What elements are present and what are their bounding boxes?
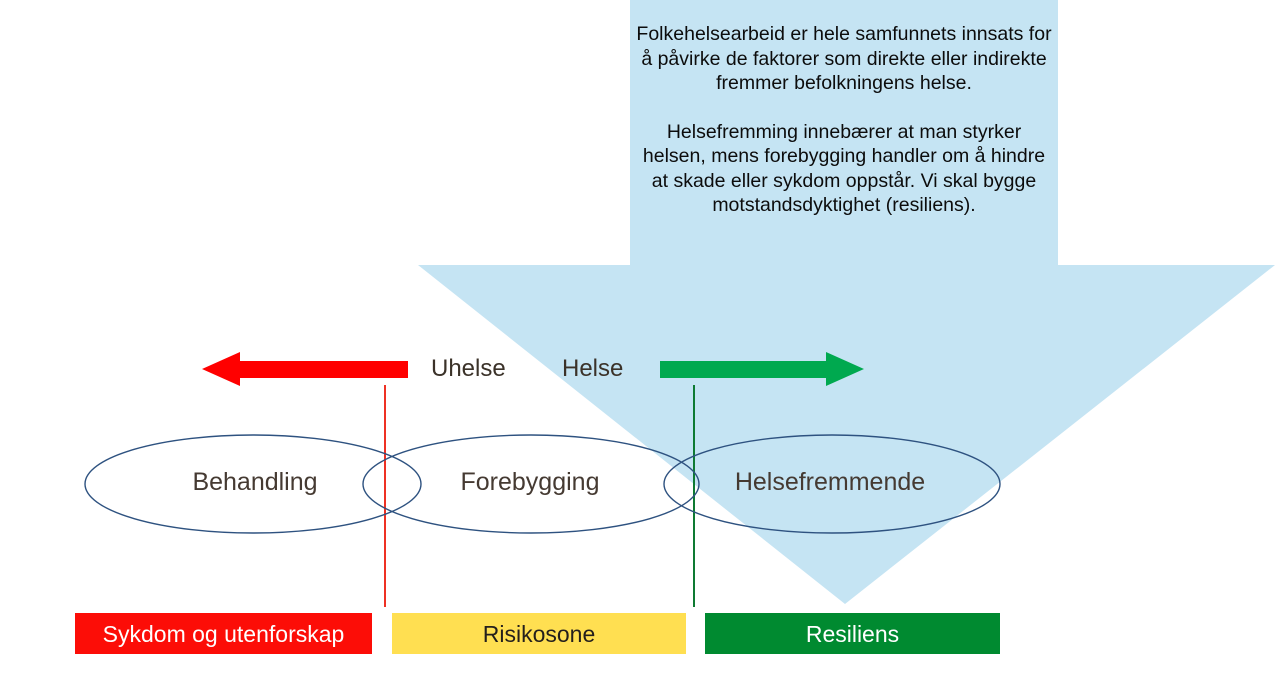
callout-text-block: Folkehelsearbeid er hele samfunnets inns… bbox=[634, 22, 1054, 218]
axis-label-uhelse: Uhelse bbox=[431, 355, 506, 383]
right-arrow-polygon bbox=[660, 352, 864, 386]
zone-bar-resiliens: Resiliens bbox=[705, 613, 1000, 654]
zone-bar-risikosone: Risikosone bbox=[392, 613, 686, 654]
divider-line-green bbox=[693, 385, 695, 607]
divider-line-red bbox=[384, 385, 386, 607]
uhelse-left-arrow-icon bbox=[202, 352, 408, 386]
ellipse-label-helsefremmende: Helsefremmende bbox=[705, 468, 955, 497]
ellipse-label-behandling: Behandling bbox=[130, 468, 380, 497]
diagram-canvas: Folkehelsearbeid er hele samfunnets inns… bbox=[0, 0, 1281, 695]
callout-paragraph-2: Helsefremming innebærer at man styrker h… bbox=[634, 120, 1054, 218]
callout-paragraph-1: Folkehelsearbeid er hele samfunnets inns… bbox=[634, 22, 1054, 96]
zone-bar-label: Sykdom og utenforskap bbox=[103, 621, 345, 647]
left-arrow-polygon bbox=[202, 352, 408, 386]
zone-bar-label: Resiliens bbox=[806, 621, 899, 647]
zone-bar-label: Risikosone bbox=[483, 621, 596, 647]
zone-bar-sykdom-og-utenforskap: Sykdom og utenforskap bbox=[75, 613, 372, 654]
axis-label-helse: Helse bbox=[562, 355, 623, 383]
ellipse-label-forebygging: Forebygging bbox=[405, 468, 655, 497]
helse-right-arrow-icon bbox=[660, 352, 864, 386]
